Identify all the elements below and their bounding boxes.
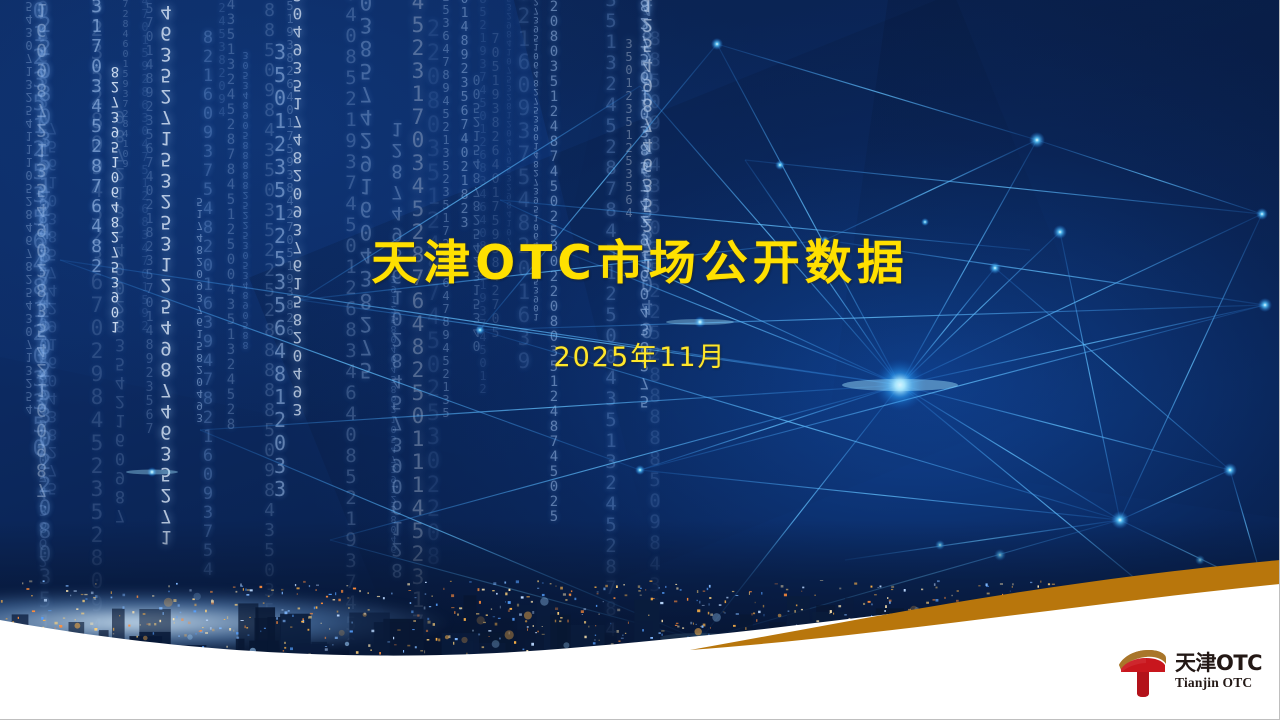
logo-name-en: Tianjin OTC [1175,674,1262,691]
title-block: 天津OTC市场公开数据 2025年11月 [0,236,1280,374]
page-subtitle: 2025年11月 [0,291,1280,374]
tianjin-otc-logo: 天津OTC Tianjin OTC [1118,645,1270,701]
tianjin-otc-logo-mark [1118,647,1168,699]
page-title: 天津OTC市场公开数据 [0,236,1280,291]
logo-text-block: 天津OTC Tianjin OTC [1175,652,1262,693]
logo-name-cn: 天津OTC [1175,652,1262,674]
presentation-slide: 4523170345287648288509843503522528888850… [0,0,1280,720]
